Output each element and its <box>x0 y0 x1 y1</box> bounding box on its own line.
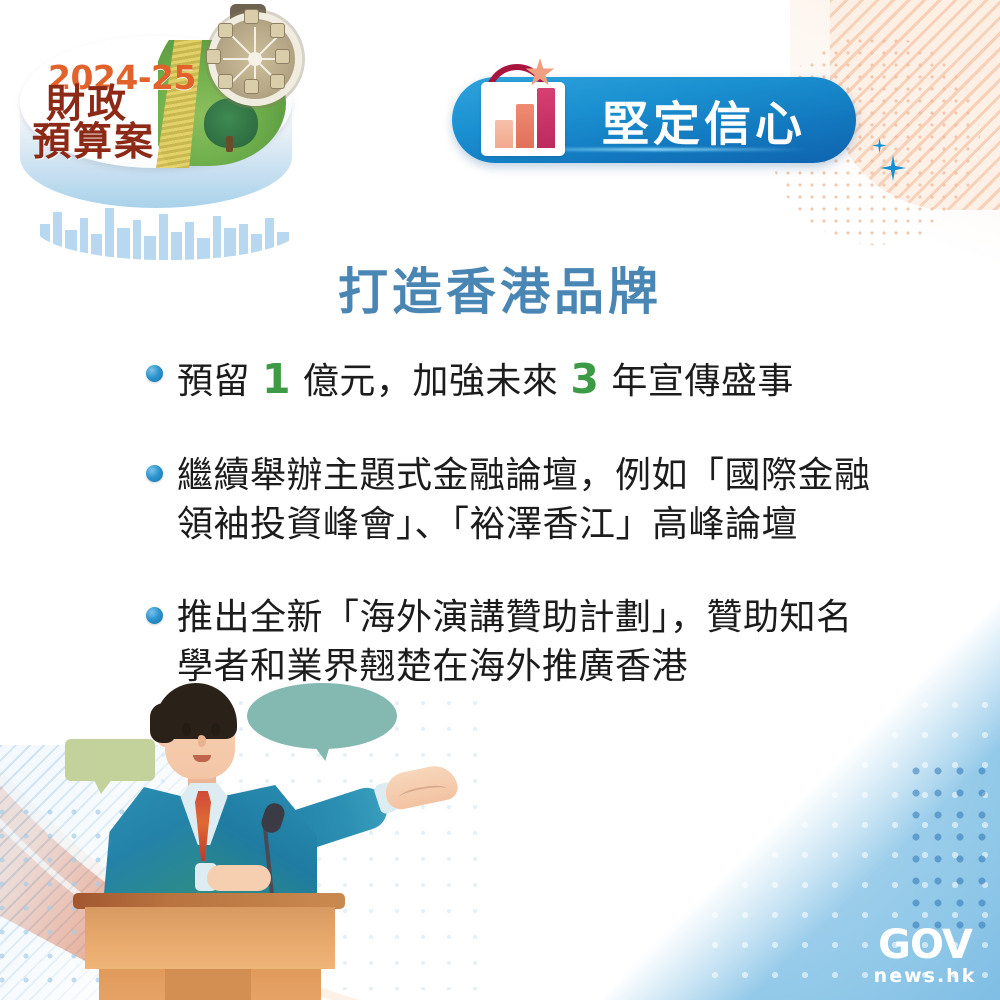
podium-panel <box>165 969 251 1000</box>
speaker-illustration <box>55 665 455 1000</box>
speech-bubble-green <box>65 739 155 781</box>
speaker-eye-right <box>211 723 220 736</box>
highlight-number: 3 <box>570 355 599 403</box>
list-item-line: 推出全新「海外演講贊助計劃」，贊助知名 <box>177 594 853 643</box>
budget-logo: 2024-25 財政 預算案 <box>8 6 308 221</box>
speech-bubble-green-tail <box>93 778 113 794</box>
speaker-hair-side <box>150 703 176 743</box>
govhk-logo-main: GOV <box>860 925 990 965</box>
budget-title-line2: 預算案 <box>32 124 246 162</box>
podium-body <box>85 907 335 969</box>
speech-bubble-teal-tail <box>311 737 337 763</box>
list-item-text: 預留 1 億元，加強未來 3 年宣傳盛事 <box>177 352 794 408</box>
bullet-dot-icon <box>146 465 163 482</box>
text-segment: 領袖投資峰會」、「裕澤香江」高峰論壇 <box>177 504 798 545</box>
speaker-nose <box>198 735 206 747</box>
speaker-eye-left <box>182 723 191 736</box>
chart-bar-2 <box>516 104 534 148</box>
bullet-dot-icon <box>146 607 163 624</box>
chart-card <box>481 82 565 156</box>
text-segment: 年宣傳盛事 <box>599 361 793 402</box>
list-item-line: 預留 1 億元，加強未來 3 年宣傳盛事 <box>177 352 794 408</box>
text-segment: 繼續舉辦主題式金融論壇，例如「國際金融 <box>177 455 871 496</box>
page-title: 打造香港品牌 <box>0 252 1000 324</box>
infographic-poster: 2024-25 財政 預算案 堅定信心 打造香港品牌 預留 1 億元，加強未來 … <box>0 0 1000 1000</box>
list-item-line: 繼續舉辦主題式金融論壇，例如「國際金融 <box>177 452 871 501</box>
header-title: 堅定信心 <box>602 86 806 155</box>
text-segment: 預留 <box>177 361 262 402</box>
list-item-line: 領袖投資峰會」、「裕澤香江」高峰論壇 <box>177 501 871 550</box>
list-item: 預留 1 億元，加強未來 3 年宣傳盛事 <box>146 352 906 408</box>
chart-bar-1 <box>495 120 513 148</box>
speaker-hand-2 <box>207 865 271 891</box>
text-segment: 推出全新「海外演講贊助計劃」，贊助知名 <box>177 597 853 638</box>
bar-chart-star-icon <box>473 60 573 160</box>
bullet-dot-icon <box>146 365 163 382</box>
govhk-logo-sub: news.hk <box>860 965 990 988</box>
chart-bar-3 <box>537 88 555 148</box>
list-item: 繼續舉辦主題式金融論壇，例如「國際金融領袖投資峰會」、「裕澤香江」高峰論壇 <box>146 452 906 550</box>
budget-title: 財政 預算案 <box>46 86 246 162</box>
text-segment: 億元，加強未來 <box>291 361 570 402</box>
list-item-text: 繼續舉辦主題式金融論壇，例如「國際金融領袖投資峰會」、「裕澤香江」高峰論壇 <box>177 452 871 550</box>
govhk-logo[interactable]: GOV news.hk <box>860 925 990 987</box>
highlight-number: 1 <box>262 355 291 403</box>
